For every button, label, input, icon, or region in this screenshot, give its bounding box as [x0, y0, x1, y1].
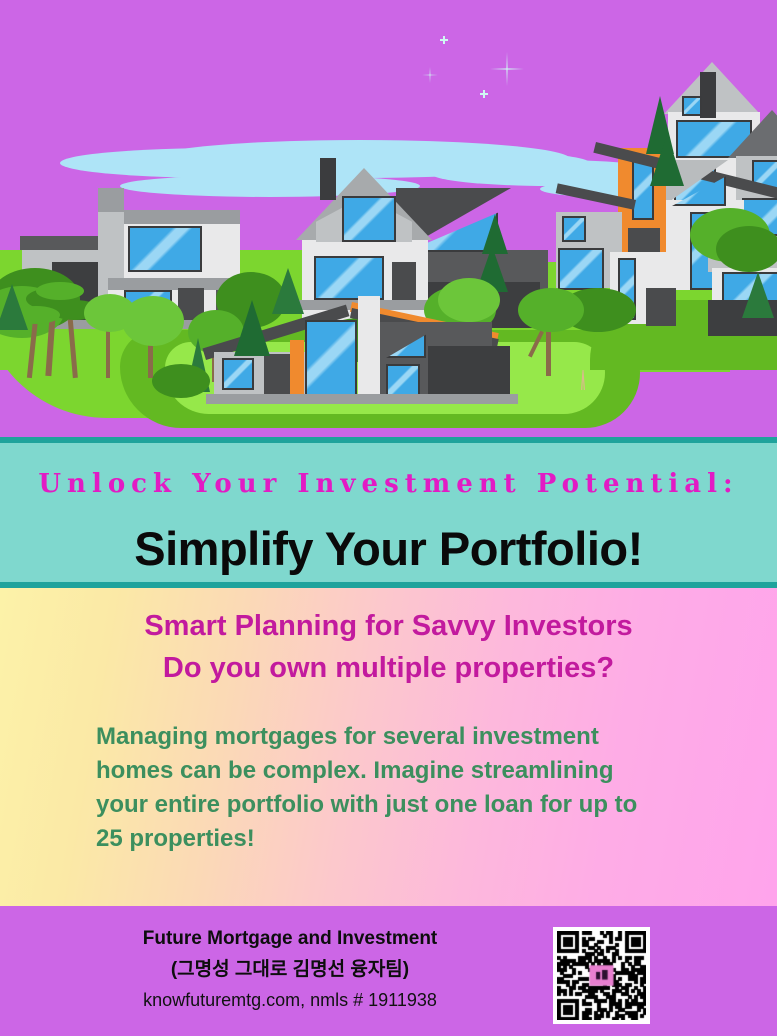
house-front-accent-stripe — [290, 340, 304, 398]
house-far-right-roof — [728, 110, 777, 158]
tree-canopy — [518, 288, 584, 332]
conifer-tree — [234, 300, 270, 356]
footer-section: Future Mortgage and Investment (그명성 그대로 … — [0, 906, 777, 1036]
house-right-chimney — [700, 72, 716, 118]
body-section: Smart Planning for Savvy Investors Do yo… — [0, 588, 777, 906]
tree-canopy — [84, 294, 136, 332]
body-paragraph: Managing mortgages for several investmen… — [96, 720, 666, 856]
teal-banner: Unlock Your Investment Potential: Simpli… — [0, 437, 777, 588]
subheadline-1: Smart Planning for Savvy Investors — [0, 610, 777, 643]
palm-fronds — [36, 282, 84, 300]
marketing-flyer: Unlock Your Investment Potential: Simpli… — [0, 0, 777, 1036]
house-front-right-window-lower — [386, 364, 420, 398]
house-front-left-window — [222, 358, 254, 390]
company-name-korean: (그명성 그대로 김명선 융자팀) — [60, 954, 520, 981]
main-headline: Simplify Your Portfolio! — [0, 521, 777, 576]
house-center-door — [392, 262, 416, 304]
subheadline-2: Do you own multiple properties? — [0, 652, 777, 685]
hero-illustration — [0, 0, 777, 437]
house-center-window-lower — [314, 256, 384, 300]
house-left-chimney — [98, 188, 124, 212]
house-front-garage-door — [428, 346, 510, 398]
company-name: Future Mortgage and Investment — [60, 928, 520, 950]
conifer-tree — [742, 272, 774, 318]
shrub — [152, 364, 210, 398]
qr-code[interactable] — [553, 927, 650, 1024]
sparkle-icon — [422, 67, 438, 83]
sparkle-icon — [480, 90, 488, 98]
conifer-tree — [272, 268, 304, 314]
house-front-column — [358, 296, 380, 398]
house-left-window-upper — [128, 226, 202, 272]
conifer-tree — [482, 214, 508, 254]
conifer-tree — [650, 134, 684, 186]
conifer-tree — [0, 284, 28, 330]
house-right-front-door — [646, 288, 676, 326]
house-front-tall-glass — [305, 320, 357, 398]
house-front-plinth — [206, 394, 518, 404]
house-center-window-upper — [342, 196, 396, 242]
house-right-low-window — [562, 216, 586, 242]
house-center-chimney — [320, 158, 336, 200]
house-right-low-window — [558, 248, 604, 290]
tree-canopy — [438, 278, 500, 322]
contact-line: knowfuturemtg.com, nmls # 1911938 — [60, 990, 520, 1011]
sparkle-icon — [440, 36, 448, 44]
sparkle-icon — [490, 52, 524, 86]
kicker-text: Unlock Your Investment Potential: — [0, 469, 777, 499]
qr-code-canvas — [557, 931, 646, 1020]
tree-canopy — [716, 226, 777, 272]
house-right-small-window — [682, 96, 702, 116]
